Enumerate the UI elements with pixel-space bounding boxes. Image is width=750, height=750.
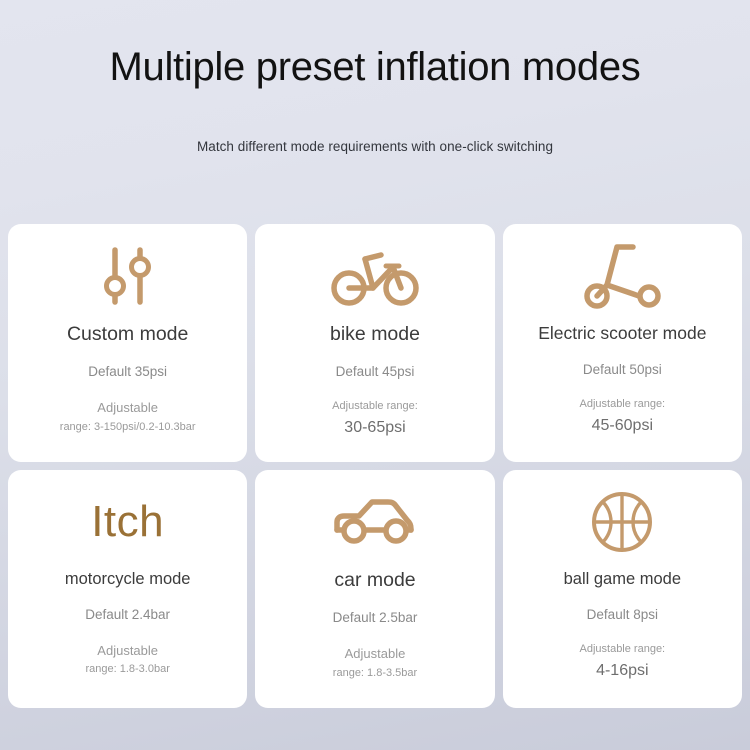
car-icon [265,476,484,568]
mode-card-range-label: Adjustable [85,641,169,661]
mode-card-default-pressure: Default 45psi [336,364,415,379]
mode-card-range: Adjustable range: 30-65psi [332,398,418,441]
mode-card-default-pressure: Default 35psi [88,364,167,379]
slider-control-icon [18,230,237,322]
mode-card-range: Adjustable range: 1.8-3.5bar [333,644,417,681]
mode-card-range-value: range: 1.8-3.0bar [85,661,169,678]
mode-card-title: Custom mode [67,324,188,345]
basketball-icon [513,476,732,568]
mode-card-default-pressure: Default 50psi [583,362,662,377]
motorcycle-icon: Itch [18,476,237,568]
mode-card-range-label: Adjustable range: [580,396,666,413]
mode-card-range-value: range: 3-150psi/0.2-10.3bar [60,419,196,436]
mode-card-range: Adjustable range: 4-16psi [580,641,666,684]
bicycle-icon [265,230,484,322]
mode-card-motorcycle[interactable]: Itch motorcycle mode Default 2.4bar Adju… [8,470,247,708]
mode-card-range-label: Adjustable [60,398,196,418]
mode-card-title: ball game mode [564,570,681,588]
mode-card-default-pressure: Default 2.5bar [333,610,418,625]
mode-card-title: motorcycle mode [65,570,191,588]
page-header: Multiple preset inflation modes Match di… [0,0,750,154]
mode-card-range-value: range: 1.8-3.5bar [333,665,417,682]
mode-card-range: Adjustable range: 3-150psi/0.2-10.3bar [60,398,196,435]
page-subtitle: Match different mode requirements with o… [0,90,750,154]
preset-modes-page: Multiple preset inflation modes Match di… [0,0,750,750]
mode-card-range-value: 4-16psi [580,659,666,684]
mode-card-title: car mode [334,570,415,591]
mode-card-range-label: Adjustable [333,644,417,664]
mode-card-range: Adjustable range: 1.8-3.0bar [85,641,169,678]
mode-card-default-pressure: Default 2.4bar [85,607,170,622]
mode-card-custom[interactable]: Custom mode Default 35psi Adjustable ran… [8,224,247,462]
mode-card-grid: Custom mode Default 35psi Adjustable ran… [8,224,742,708]
mode-card-default-pressure: Default 8psi [587,607,658,622]
mode-card-range: Adjustable range: 45-60psi [580,396,666,439]
page-title: Multiple preset inflation modes [0,44,750,90]
motorcycle-icon-glyph: Itch [91,500,164,544]
mode-card-electric-scooter[interactable]: Electric scooter mode Default 50psi Adju… [503,224,742,462]
mode-card-car[interactable]: car mode Default 2.5bar Adjustable range… [255,470,494,708]
electric-scooter-icon [513,230,732,322]
mode-card-title: Electric scooter mode [538,324,706,343]
mode-card-range-value: 45-60psi [580,414,666,439]
mode-card-bike[interactable]: bike mode Default 45psi Adjustable range… [255,224,494,462]
mode-card-range-label: Adjustable range: [580,641,666,658]
mode-card-range-value: 30-65psi [332,416,418,441]
mode-card-ball-game[interactable]: ball game mode Default 8psi Adjustable r… [503,470,742,708]
mode-card-range-label: Adjustable range: [332,398,418,415]
mode-card-title: bike mode [330,324,420,345]
